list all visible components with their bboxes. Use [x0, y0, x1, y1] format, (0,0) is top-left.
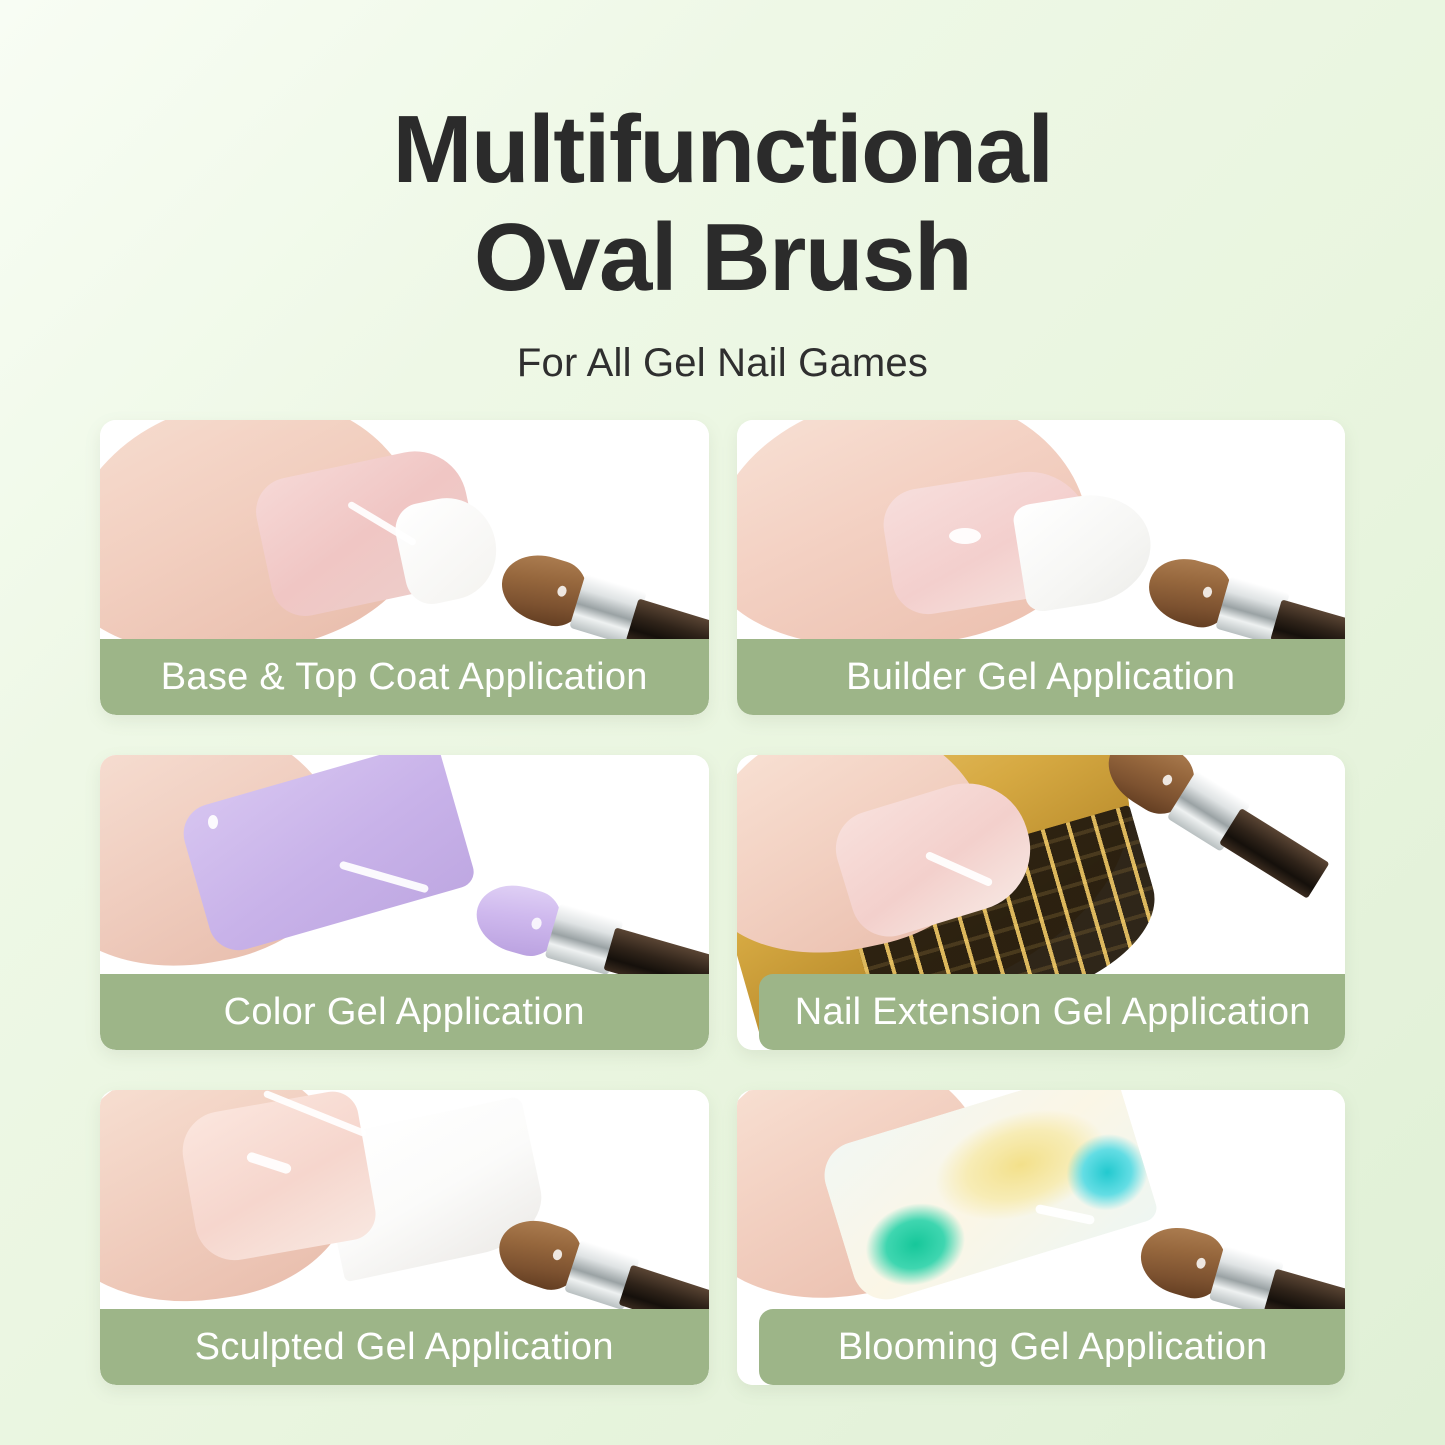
feature-card-builder-gel: Builder Gel Application	[737, 420, 1346, 715]
card-caption-nail-extension: Nail Extension Gel Application	[759, 974, 1346, 1050]
feature-card-nail-extension: Nail Extension Gel Application	[737, 755, 1346, 1050]
feature-card-base-top-coat: Base & Top Coat Application	[100, 420, 709, 715]
card-caption-sculpted-gel: Sculpted Gel Application	[100, 1309, 709, 1385]
page-subtitle: For All Gel Nail Games	[0, 341, 1445, 386]
nail-shine-dot	[208, 815, 218, 829]
card-caption-builder-gel: Builder Gel Application	[737, 639, 1346, 715]
nail-shine	[949, 528, 981, 544]
card-caption-color-gel: Color Gel Application	[100, 974, 709, 1050]
header: Multifunctional Oval Brush For All Gel N…	[0, 0, 1445, 386]
brush-handle	[1219, 808, 1329, 899]
title-line-2: Oval Brush	[173, 204, 1273, 312]
feature-card-sculpted-gel: Sculpted Gel Application	[100, 1090, 709, 1385]
card-caption-blooming-gel: Blooming Gel Application	[759, 1309, 1346, 1385]
infographic-page: Multifunctional Oval Brush For All Gel N…	[0, 0, 1445, 1445]
feature-card-grid: Base & Top Coat Application Builder Gel …	[0, 420, 1445, 1385]
title-line-1: Multifunctional	[392, 96, 1052, 203]
nail-plate	[176, 1090, 379, 1266]
card-caption-base-top-coat: Base & Top Coat Application	[100, 639, 709, 715]
feature-card-color-gel: Color Gel Application	[100, 755, 709, 1050]
page-title: Multifunctional Oval Brush	[173, 96, 1273, 311]
builder-gel-extension	[1011, 486, 1158, 613]
feature-card-blooming-gel: Blooming Gel Application	[737, 1090, 1346, 1385]
